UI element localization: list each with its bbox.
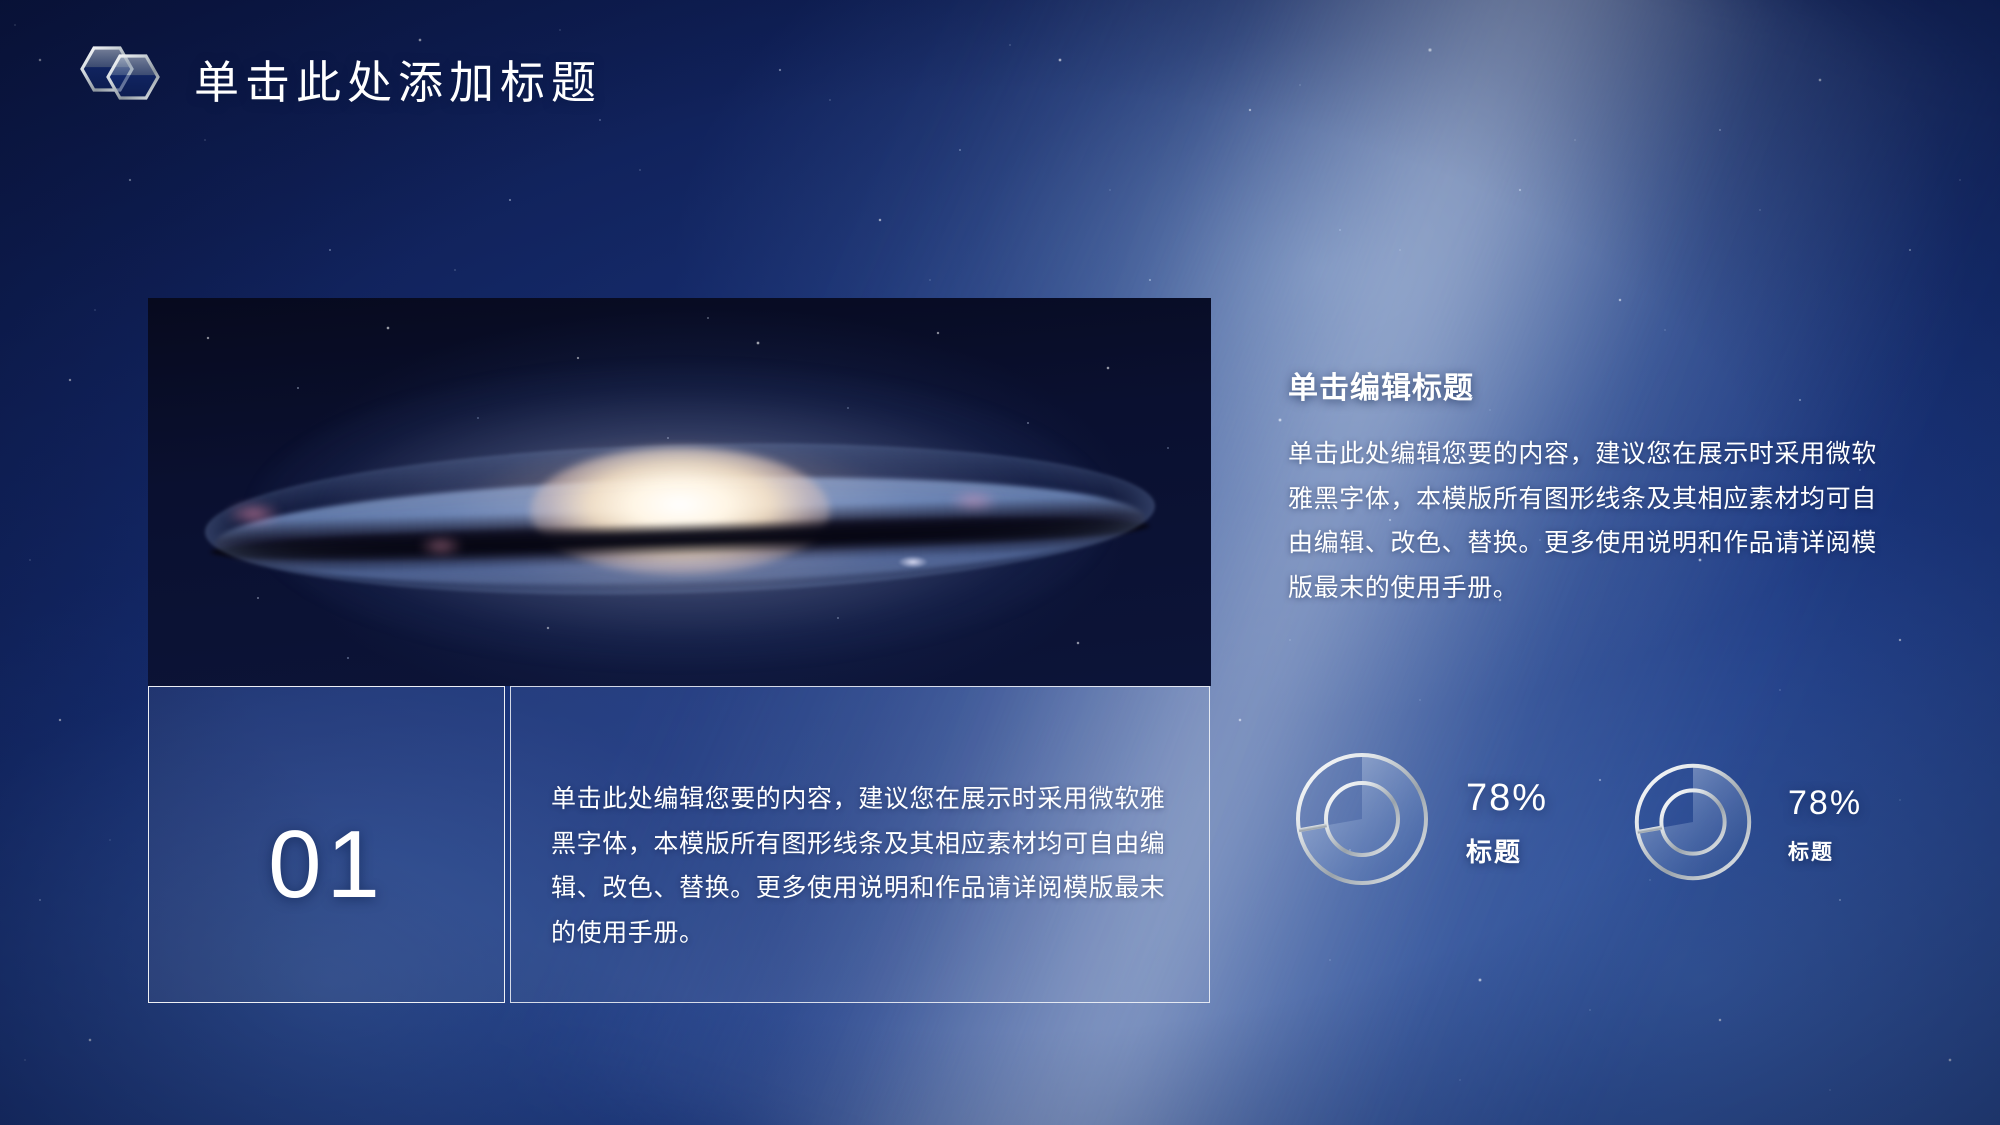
satellite-galaxy <box>898 556 928 568</box>
panel-number: 01 <box>268 817 385 913</box>
right-text-block: 单击编辑标题 单击此处编辑您要的内容，建议您在展示时采用微软雅黑字体，本模版所有… <box>1288 363 1908 610</box>
galaxy-image <box>148 298 1211 686</box>
donut-ring-1 <box>1288 745 1436 898</box>
donut-caption-1: 标题 <box>1466 839 1548 865</box>
donut-chart-1[interactable]: 78% 标题 <box>1288 745 1548 898</box>
donut-percent-2: 78% <box>1788 786 1862 820</box>
donut-chart-2[interactable]: 78% 标题 <box>1628 757 1862 892</box>
page-title: 单击此处添加标题 <box>194 46 602 111</box>
number-panel[interactable]: 01 <box>148 686 505 1003</box>
donut-labels-2: 78% 标题 <box>1788 786 1862 863</box>
donut-chart-group: 78% 标题 <box>1288 745 1988 975</box>
slide-header: 单击此处添加标题 <box>78 42 602 114</box>
right-heading: 单击编辑标题 <box>1288 363 1908 407</box>
nebula-knot-3 <box>948 490 1000 512</box>
slide-canvas: 单击此处添加标题 01 单击此处编辑您要的内容，建议您在展示时采用微软雅黑字体，… <box>0 0 2000 1125</box>
description-panel[interactable]: 单击此处编辑您要的内容，建议您在展示时采用微软雅黑字体，本模版所有图形线条及其相… <box>510 686 1210 1003</box>
nebula-knot-2 <box>418 536 464 556</box>
donut-ring-2 <box>1628 757 1758 892</box>
nebula-knot-1 <box>226 502 282 526</box>
donut-labels-1: 78% 标题 <box>1466 779 1548 865</box>
hexagon-logo-icon <box>78 42 176 114</box>
right-body: 单击此处编辑您要的内容，建议您在展示时采用微软雅黑字体，本模版所有图形线条及其相… <box>1288 432 1900 610</box>
donut-caption-2: 标题 <box>1788 842 1862 863</box>
description-panel-body: 单击此处编辑您要的内容，建议您在展示时采用微软雅黑字体，本模版所有图形线条及其相… <box>551 777 1167 955</box>
donut-percent-1: 78% <box>1466 779 1548 817</box>
